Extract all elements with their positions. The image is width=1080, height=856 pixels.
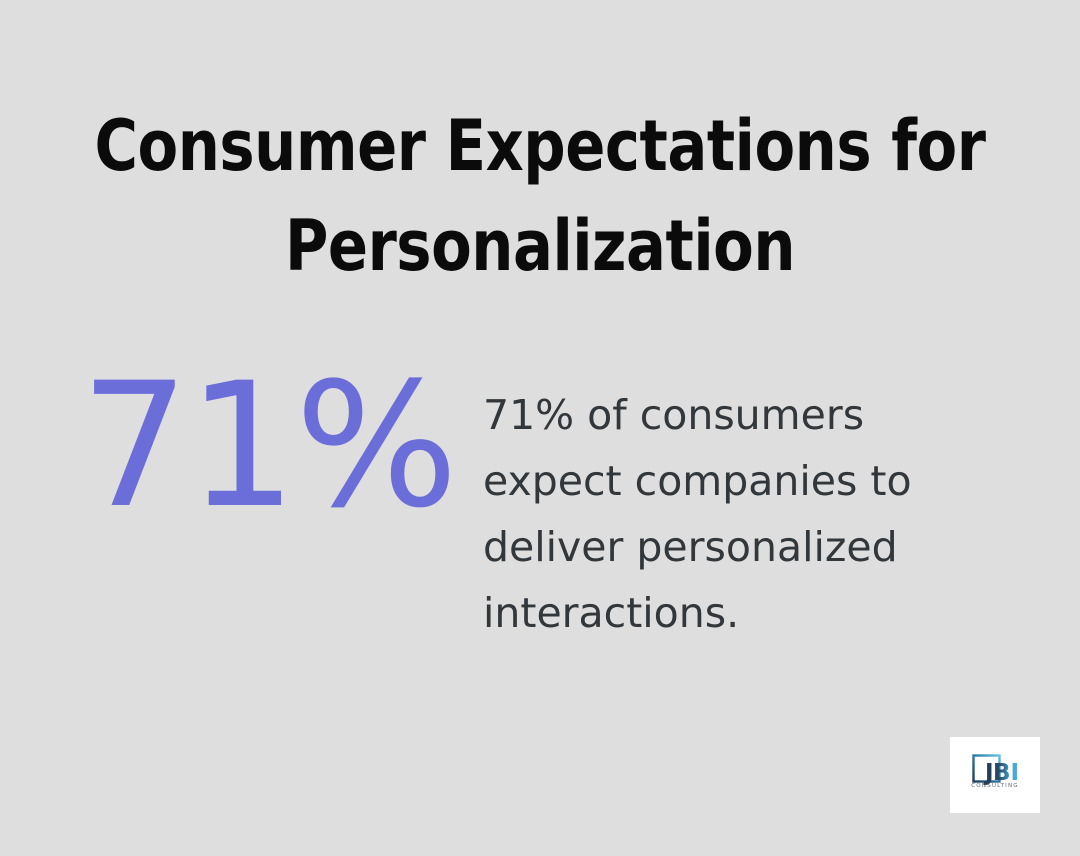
logo-card: JB I CONSULTING	[950, 737, 1040, 813]
page-title: Consumer Expectations for Personalizatio…	[0, 96, 1080, 296]
jbi-logo-icon: JB I	[959, 752, 1031, 786]
stat-description: 71% of consumers expect companies to del…	[483, 382, 953, 646]
infographic-canvas: Consumer Expectations for Personalizatio…	[0, 0, 1080, 856]
statistic-section: 71% 71% of consumers expect companies to…	[0, 360, 1080, 660]
stat-value: 71%	[80, 360, 410, 532]
title-line-1: Consumer Expectations for	[32, 96, 1047, 196]
title-line-2: Personalization	[32, 196, 1047, 296]
jbi-logo: JB I CONSULTING	[959, 752, 1031, 798]
logo-tagline: CONSULTING	[959, 783, 1031, 790]
